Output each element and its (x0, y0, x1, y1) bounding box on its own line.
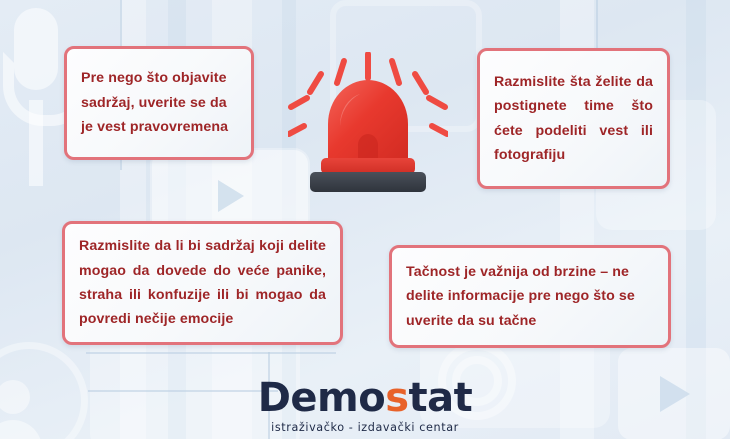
demostat-logo: Demostat istraživačko - izdavački centar (0, 378, 730, 434)
microphone-stem (29, 100, 43, 186)
logo-word-accent: s (385, 375, 408, 421)
logo-tagline: istraživačko - izdavački centar (0, 421, 730, 434)
callout-harm: Razmislite da li bi sadržaj koji delite … (62, 221, 343, 345)
logo-word-part2: tat (409, 375, 473, 421)
callout-text: Razmislite da li bi sadržaj koji delite … (79, 234, 326, 332)
logo-word-part1: Demo (258, 375, 386, 421)
callout-accuracy: Tačnost je važnija od brzine – ne delite… (389, 245, 671, 348)
callout-text: Pre nego što objavite sadržaj, uverite s… (81, 66, 237, 139)
background-band (686, 0, 706, 439)
siren-collar (321, 158, 415, 174)
callout-text: Razmislite šta želite da postignete time… (494, 70, 653, 168)
callout-timeliness: Pre nego što objavite sadržaj, uverite s… (64, 46, 254, 160)
microphone-head (14, 8, 58, 90)
siren-base (310, 172, 426, 192)
grid-line (86, 352, 336, 354)
siren-notch (358, 134, 378, 162)
callout-text: Tačnost je važnija od brzine – ne delite… (406, 260, 654, 333)
callout-purpose: Razmislite šta želite da postignete time… (477, 48, 670, 189)
infographic-canvas: Pre nego što objavite sadržaj, uverite s… (0, 0, 730, 439)
play-triangle (218, 180, 244, 212)
logo-wordmark: Demostat (0, 378, 730, 418)
emergency-siren-icon (288, 52, 448, 197)
